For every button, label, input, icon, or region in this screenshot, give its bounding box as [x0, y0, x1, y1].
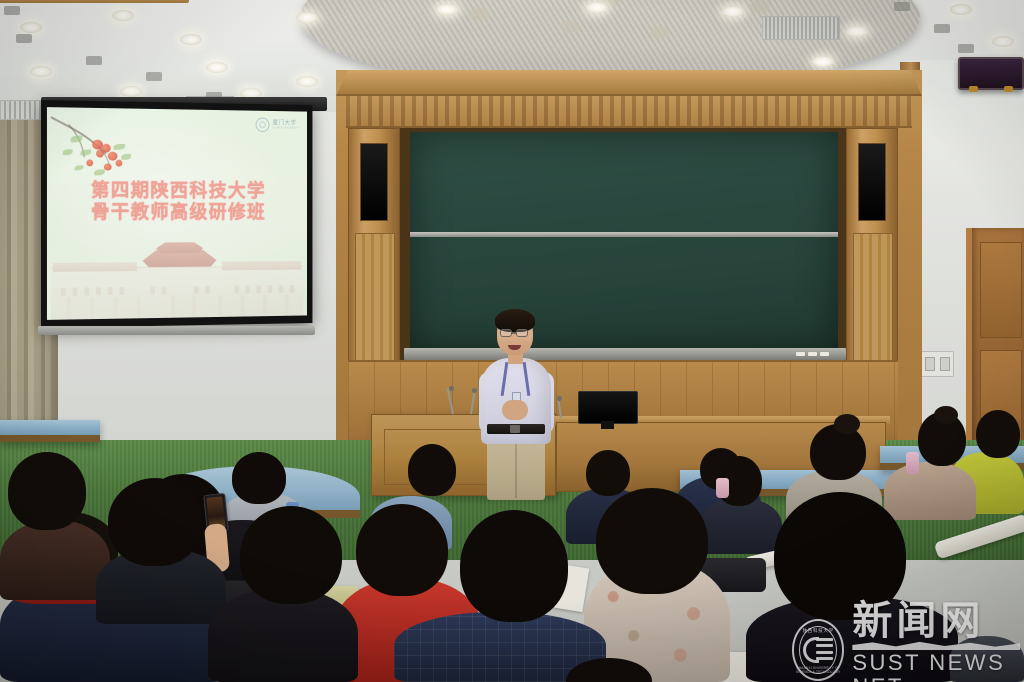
xmu-logo-subtitle: XIAMEN UNIVERSITY [273, 127, 300, 130]
stage-monitor [578, 391, 638, 424]
ceiling-speaker-icon [894, 2, 910, 11]
ceiling-speaker-icon [16, 34, 32, 43]
speaker-grille-icon [858, 143, 886, 221]
presentation-slide: 厦门大学 XIAMEN UNIVERSITY 第四期陕西科技大学 骨干教师高级研… [47, 107, 307, 320]
chalkboard [410, 132, 838, 354]
campus-building-illustration [47, 233, 307, 320]
xiamen-university-logo: 厦门大学 XIAMEN UNIVERSITY [256, 117, 300, 132]
wall-air-vent [0, 100, 46, 120]
glasses-icon [500, 329, 512, 337]
wall-display-unit [958, 57, 1024, 90]
projection-screen-weight-bar [38, 326, 315, 335]
ceiling-light [30, 66, 52, 77]
glasses-icon [516, 329, 528, 337]
ceiling-speaker-icon [934, 24, 950, 33]
ceiling-light [846, 26, 868, 37]
ceiling-light [722, 6, 744, 17]
xmu-seal-icon [256, 117, 270, 132]
ceiling-light [296, 12, 318, 23]
audience-desk [0, 420, 100, 442]
stage-frieze [346, 96, 912, 128]
lecture-hall-photo: 厦门大学 XIAMEN UNIVERSITY 第四期陕西科技大学 骨干教师高级研… [0, 0, 1024, 682]
slide-title-line2: 骨干教师高级研修班 [47, 201, 307, 224]
slide-title-line1: 第四期陕西科技大学 [47, 179, 307, 202]
slide-title: 第四期陕西科技大学 骨干教师高级研修班 [47, 179, 307, 224]
stage-cornice [336, 70, 922, 96]
ceiling-light [206, 62, 228, 73]
presenter-hands [502, 400, 528, 420]
ceiling-vent [762, 16, 840, 40]
ceiling-speaker-icon [86, 56, 102, 65]
ceiling-light [20, 22, 42, 33]
ceiling-light [436, 4, 458, 15]
ceiling-light [586, 2, 608, 13]
projection-screen: 厦门大学 XIAMEN UNIVERSITY 第四期陕西科技大学 骨干教师高级研… [41, 100, 312, 328]
ceiling-light [180, 34, 202, 45]
flowering-branch-decoration [49, 113, 164, 189]
water-bottle [716, 478, 729, 498]
ceiling-speaker-icon [4, 6, 20, 15]
ceiling-light [112, 10, 134, 21]
chalk-tray [404, 348, 846, 360]
speaker-grille-icon [360, 143, 388, 221]
ceiling-light [992, 36, 1014, 47]
ceiling-light [950, 4, 972, 15]
water-bottle [906, 452, 919, 474]
ceiling-speaker-icon [146, 72, 162, 81]
ceiling-light [120, 86, 142, 97]
ceiling-speaker-icon [958, 44, 974, 53]
ceiling-light [296, 76, 318, 87]
ceiling-light [812, 56, 834, 67]
